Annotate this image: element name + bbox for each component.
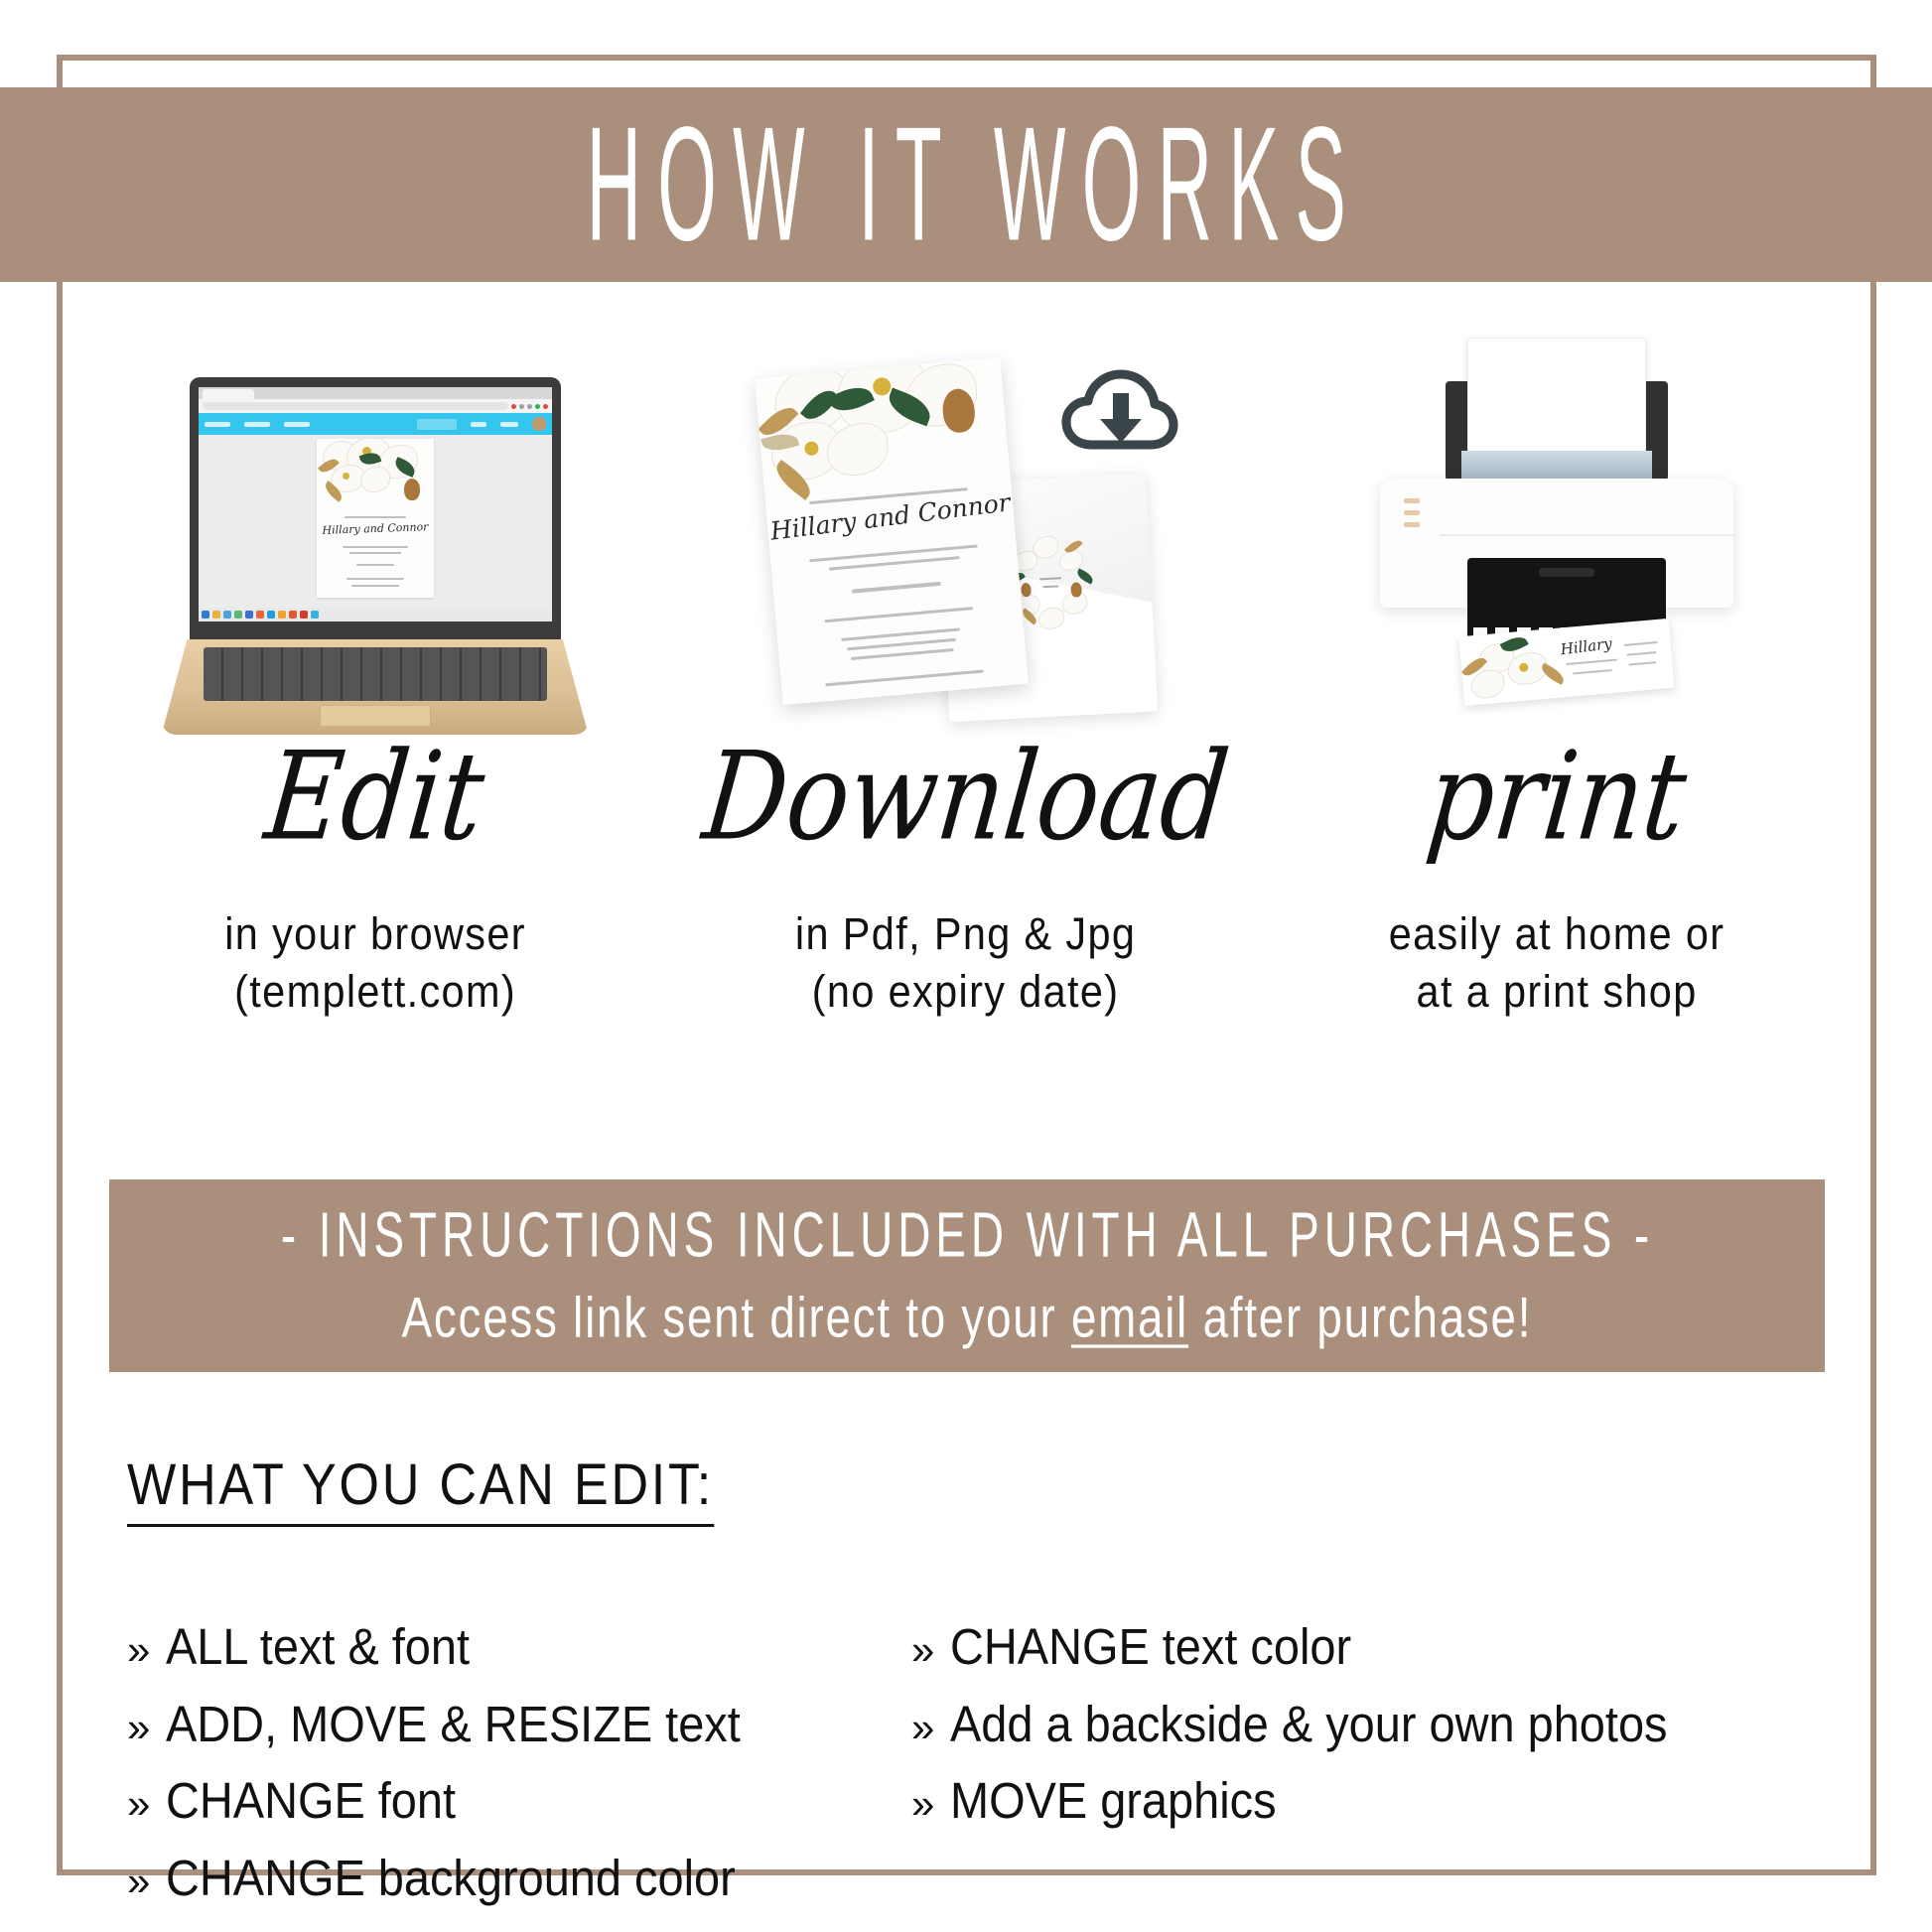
edit-lists: »ALL text & font »ADD, MOVE & RESIZE tex…	[127, 1608, 1874, 1916]
toolbar-print-button	[471, 422, 486, 427]
step-print: Hillary print easily at home or at a pri…	[1262, 298, 1853, 1172]
caption-line-2: (no expiry date)	[795, 963, 1136, 1021]
laptop-lid: Hillary and Connor	[190, 377, 561, 643]
instructions-sub-before: Access link sent direct to your	[402, 1287, 1071, 1350]
list-item: »MOVE graphics	[911, 1762, 1874, 1840]
list-item: »Add a backside & your own photos	[911, 1686, 1874, 1763]
list-item: »CHANGE text color	[911, 1608, 1874, 1686]
instructions-email-link[interactable]: email	[1071, 1287, 1188, 1350]
caption-line-1: in your browser	[224, 905, 526, 963]
list-item-label: ALL text & font	[166, 1608, 470, 1686]
laptop-browser-illustration: Hillary and Connor	[79, 298, 670, 735]
instructions-headline: - INSTRUCTIONS INCLUDED WITH ALL PURCHAS…	[280, 1203, 1653, 1267]
download-graphic: Hillary and Connor	[753, 332, 1179, 729]
toolbar-before-button	[500, 422, 518, 427]
caption-line-1: easily at home or	[1389, 905, 1725, 963]
address-input	[203, 402, 508, 410]
invitation-card: Hillary and Connor	[755, 357, 1029, 705]
toolbar-download-button	[417, 419, 457, 430]
invitation-preview: Hillary and Connor	[317, 439, 434, 598]
caption-line-2: at a print shop	[1389, 963, 1725, 1021]
list-item-label: CHANGE text color	[950, 1608, 1351, 1686]
caption-line-2: (templett.com)	[224, 963, 526, 1021]
templett-app-toolbar	[199, 413, 552, 435]
browser-extension-icon	[519, 404, 524, 409]
step-caption-print: easily at home or at a print shop	[1389, 905, 1725, 1020]
header-banner: HOW IT WORKS	[0, 87, 1932, 282]
list-item-label: CHANGE font	[166, 1762, 456, 1840]
printer-tray-handle	[1539, 568, 1594, 577]
how-it-works-steps: Hillary and Connor	[79, 298, 1853, 1172]
bullet-icon: »	[911, 1772, 934, 1836]
edit-list-right: »CHANGE text color »Add a backside & you…	[911, 1608, 1874, 1916]
list-item-label: MOVE graphics	[950, 1762, 1277, 1840]
bullet-icon: »	[127, 1850, 150, 1913]
step-script-label-download: Download	[698, 736, 1233, 858]
bullet-icon: »	[911, 1618, 934, 1682]
os-taskbar	[199, 608, 552, 621]
printer-input-paper	[1467, 338, 1646, 453]
inkjet-printer-illustration: Hillary	[1262, 298, 1853, 735]
edit-list-left: »ALL text & font »ADD, MOVE & RESIZE tex…	[127, 1608, 911, 1916]
invitation-envelope-cloud-download-illustration: Hillary and Connor	[670, 298, 1261, 735]
toolbar-options-menu	[244, 422, 270, 427]
step-caption-edit: in your browser (templett.com)	[224, 905, 526, 1020]
list-item-label: Add a backside & your own photos	[950, 1686, 1668, 1763]
browser-address-bar	[199, 399, 552, 413]
laptop-graphic: Hillary and Connor	[162, 377, 589, 735]
step-edit: Hillary and Connor	[79, 298, 670, 1172]
laptop-base	[162, 639, 589, 735]
browser-extension-icon	[543, 404, 548, 409]
cloud-download-icon	[1060, 365, 1179, 461]
list-item: »ALL text & font	[127, 1608, 911, 1686]
browser-extension-icon	[535, 404, 540, 409]
laptop-screen: Hillary and Connor	[199, 387, 552, 621]
bullet-icon: »	[127, 1696, 150, 1759]
list-item: »CHANGE font	[127, 1762, 911, 1840]
step-script-label-edit: Edit	[260, 736, 488, 858]
list-item-label: CHANGE background color	[166, 1840, 736, 1917]
bullet-icon: »	[127, 1618, 150, 1682]
laptop-keyboard	[204, 647, 547, 701]
browser-extension-icon	[527, 404, 532, 409]
browser-extension-icon	[511, 404, 516, 409]
printer-graphic: Hillary	[1358, 334, 1755, 731]
toolbar-undo-button	[284, 422, 310, 427]
browser-tab	[203, 389, 254, 399]
list-item: »CHANGE background color	[127, 1840, 911, 1917]
avatar	[532, 417, 546, 431]
what-you-can-edit-section: WHAT YOU CAN EDIT: »ALL text & font »ADD…	[127, 1451, 1874, 1916]
editor-canvas: Hillary and Connor	[199, 435, 552, 608]
printer-lid-seam	[1440, 534, 1733, 536]
instructions-subtext: Access link sent direct to your email af…	[402, 1290, 1533, 1346]
caption-line-1: in Pdf, Png & Jpg	[795, 905, 1136, 963]
instructions-sub-after: after purchase!	[1188, 1287, 1532, 1350]
edit-section-heading: WHAT YOU CAN EDIT:	[127, 1451, 714, 1527]
instructions-banner: - INSTRUCTIONS INCLUDED WITH ALL PURCHAS…	[109, 1179, 1825, 1372]
step-script-label-print: print	[1423, 736, 1692, 858]
toolbar-file-menu	[205, 422, 230, 427]
step-caption-download: in Pdf, Png & Jpg (no expiry date)	[795, 905, 1136, 1020]
laptop-trackpad	[320, 705, 431, 727]
step-download: Hillary and Connor Download in Pdf	[670, 298, 1261, 1172]
bullet-icon: »	[127, 1772, 150, 1836]
bullet-icon: »	[911, 1696, 934, 1759]
page-title: HOW IT WORKS	[570, 103, 1362, 266]
browser-tab-strip	[199, 387, 552, 399]
list-item-label: ADD, MOVE & RESIZE text	[166, 1686, 741, 1763]
list-item: »ADD, MOVE & RESIZE text	[127, 1686, 911, 1763]
